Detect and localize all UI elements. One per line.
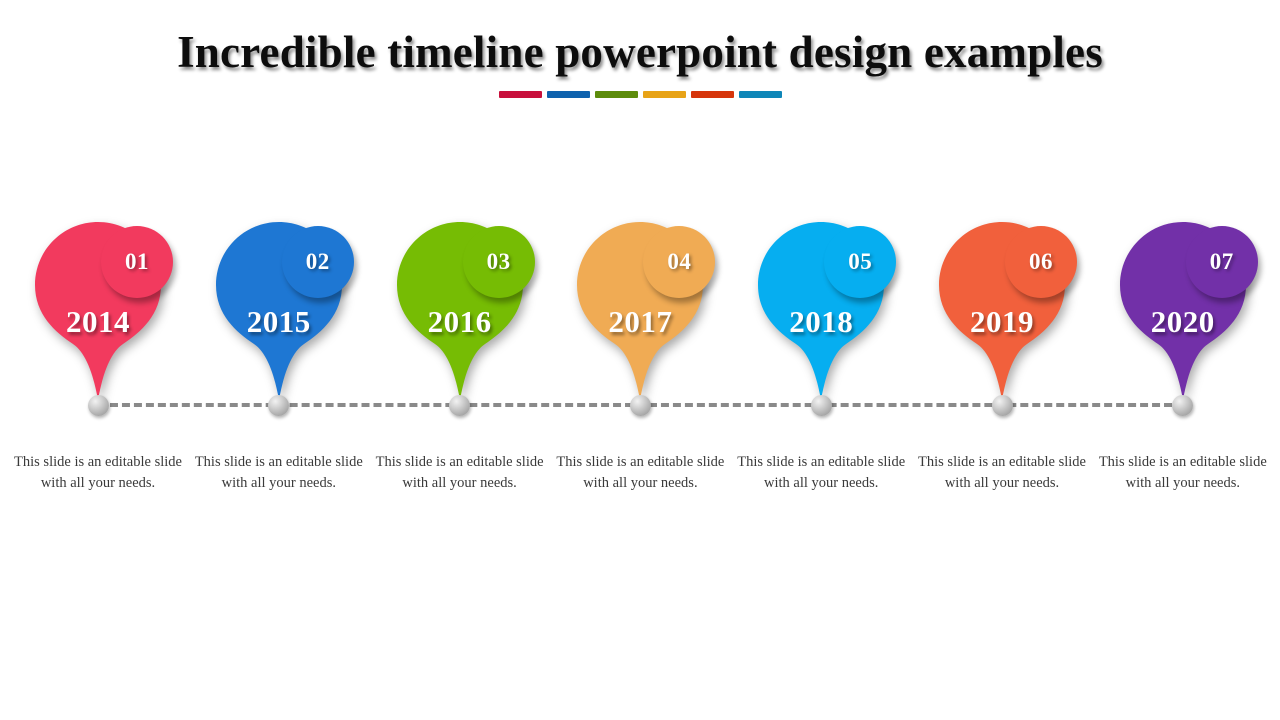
timeline-item-description: This slide is an editable slide with all… xyxy=(550,452,731,493)
map-pin-2019[interactable]: 201906 xyxy=(939,222,1065,400)
pin-number-badge[interactable]: 03 xyxy=(463,226,535,298)
map-pin-2016[interactable]: 201603 xyxy=(397,222,523,400)
pin-number-badge[interactable]: 07 xyxy=(1186,226,1258,298)
timeline-node-2016[interactable] xyxy=(449,395,470,416)
timeline-item-2015[interactable]: 201502This slide is an editable slide wi… xyxy=(188,0,369,720)
timeline-item-description: This slide is an editable slide with all… xyxy=(731,452,912,493)
pin-number-label: 07 xyxy=(1210,249,1234,275)
pin-number-badge[interactable]: 04 xyxy=(643,226,715,298)
pin-number-label: 01 xyxy=(125,249,149,275)
timeline-item-description: This slide is an editable slide with all… xyxy=(1092,452,1273,493)
map-pin-2020[interactable]: 202007 xyxy=(1120,222,1246,400)
pin-number-label: 05 xyxy=(848,249,872,275)
map-pin-2017[interactable]: 201704 xyxy=(577,222,703,400)
timeline-items-container: 201401This slide is an editable slide wi… xyxy=(0,0,1280,720)
timeline-item-2019[interactable]: 201906This slide is an editable slide wi… xyxy=(912,0,1093,720)
timeline-item-2014[interactable]: 201401This slide is an editable slide wi… xyxy=(8,0,189,720)
timeline-item-2018[interactable]: 201805This slide is an editable slide wi… xyxy=(731,0,912,720)
timeline-item-description: This slide is an editable slide with all… xyxy=(369,452,550,493)
pin-number-badge[interactable]: 01 xyxy=(101,226,173,298)
timeline-item-description: This slide is an editable slide with all… xyxy=(912,452,1093,493)
pin-number-label: 06 xyxy=(1029,249,1053,275)
timeline-node-2018[interactable] xyxy=(811,395,832,416)
timeline-node-2014[interactable] xyxy=(88,395,109,416)
timeline-item-2017[interactable]: 201704This slide is an editable slide wi… xyxy=(550,0,731,720)
timeline-item-description: This slide is an editable slide with all… xyxy=(188,452,369,493)
timeline-item-2020[interactable]: 202007This slide is an editable slide wi… xyxy=(1092,0,1273,720)
map-pin-2018[interactable]: 201805 xyxy=(758,222,884,400)
pin-number-badge[interactable]: 06 xyxy=(1005,226,1077,298)
pin-number-label: 02 xyxy=(306,249,330,275)
timeline-node-2020[interactable] xyxy=(1172,395,1193,416)
map-pin-2014[interactable]: 201401 xyxy=(35,222,161,400)
timeline-node-2019[interactable] xyxy=(992,395,1013,416)
map-pin-2015[interactable]: 201502 xyxy=(216,222,342,400)
timeline-item-2016[interactable]: 201603This slide is an editable slide wi… xyxy=(369,0,550,720)
pin-number-badge[interactable]: 02 xyxy=(282,226,354,298)
pin-number-badge[interactable]: 05 xyxy=(824,226,896,298)
timeline-node-2017[interactable] xyxy=(630,395,651,416)
pin-number-label: 04 xyxy=(667,249,691,275)
timeline-item-description: This slide is an editable slide with all… xyxy=(8,452,189,493)
timeline-node-2015[interactable] xyxy=(268,395,289,416)
pin-number-label: 03 xyxy=(487,249,511,275)
